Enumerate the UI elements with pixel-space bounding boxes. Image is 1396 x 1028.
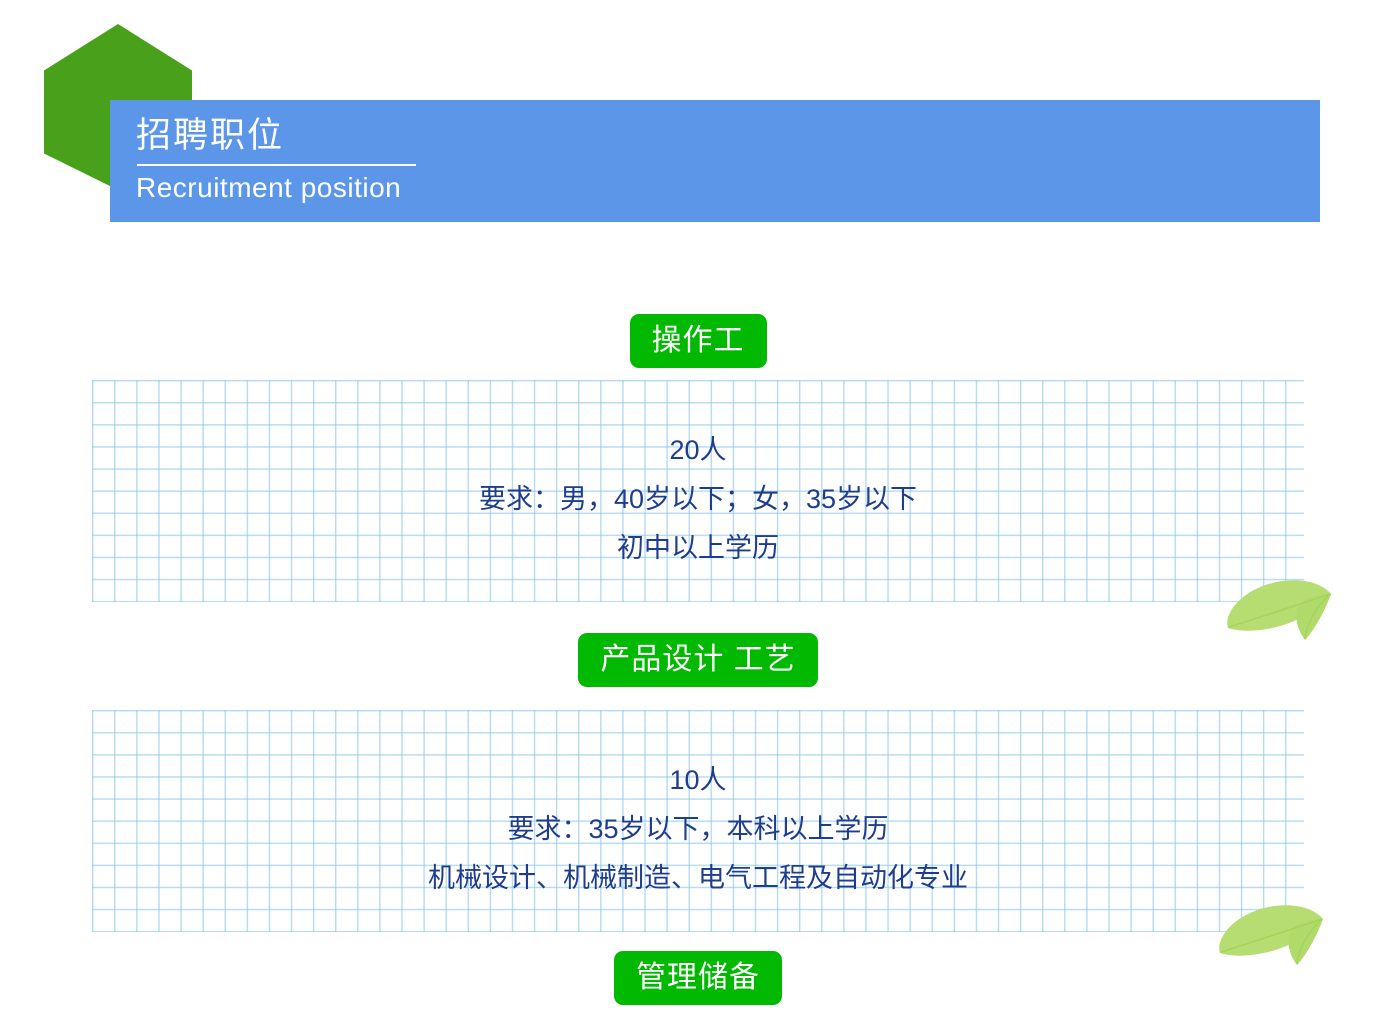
job-details-operator: 20人 要求：男，40岁以下；女，35岁以下 初中以上学历 xyxy=(92,380,1304,573)
detail-line: 要求：35岁以下，本科以上学历 xyxy=(92,805,1304,854)
grid-panel-operator: 20人 要求：男，40岁以下；女，35岁以下 初中以上学历 xyxy=(92,380,1304,602)
job-title-badge-operator[interactable]: 操作工 xyxy=(630,314,767,368)
detail-line: 要求：男，40岁以下；女，35岁以下 xyxy=(92,475,1304,524)
page-header: 招聘职位 Recruitment position xyxy=(0,0,1396,280)
page-title-en: Recruitment position xyxy=(136,170,1320,206)
detail-line: 机械设计、机械制造、电气工程及自动化专业 xyxy=(92,854,1304,903)
pill-row-1: 操作工 xyxy=(0,314,1396,368)
page-title-cn: 招聘职位 xyxy=(136,114,1320,158)
section-management-reserve: 管理储备 xyxy=(0,951,1396,1005)
job-details-product-design: 10人 要求：35岁以下，本科以上学历 机械设计、机械制造、电气工程及自动化专业 xyxy=(92,710,1304,903)
job-title-badge-product-design[interactable]: 产品设计 工艺 xyxy=(578,633,817,687)
pill-row-3: 管理储备 xyxy=(0,951,1396,1005)
section-operator: 操作工 20人 要求：男，40岁以下；女，35岁以下 初中以上学历 xyxy=(0,314,1396,602)
job-title-badge-management-reserve[interactable]: 管理储备 xyxy=(614,951,782,1005)
grid-panel-product-design: 10人 要求：35岁以下，本科以上学历 机械设计、机械制造、电气工程及自动化专业 xyxy=(92,710,1304,932)
detail-line: 10人 xyxy=(92,756,1304,805)
title-divider xyxy=(137,164,416,166)
detail-line: 20人 xyxy=(92,426,1304,475)
title-bar: 招聘职位 Recruitment position xyxy=(110,100,1320,222)
pill-row-2: 产品设计 工艺 xyxy=(0,633,1396,687)
detail-line: 初中以上学历 xyxy=(92,524,1304,573)
section-product-design: 产品设计 工艺 10人 要求：35岁以下，本科以上学历 机械设计、机械制造、电气… xyxy=(0,633,1396,932)
